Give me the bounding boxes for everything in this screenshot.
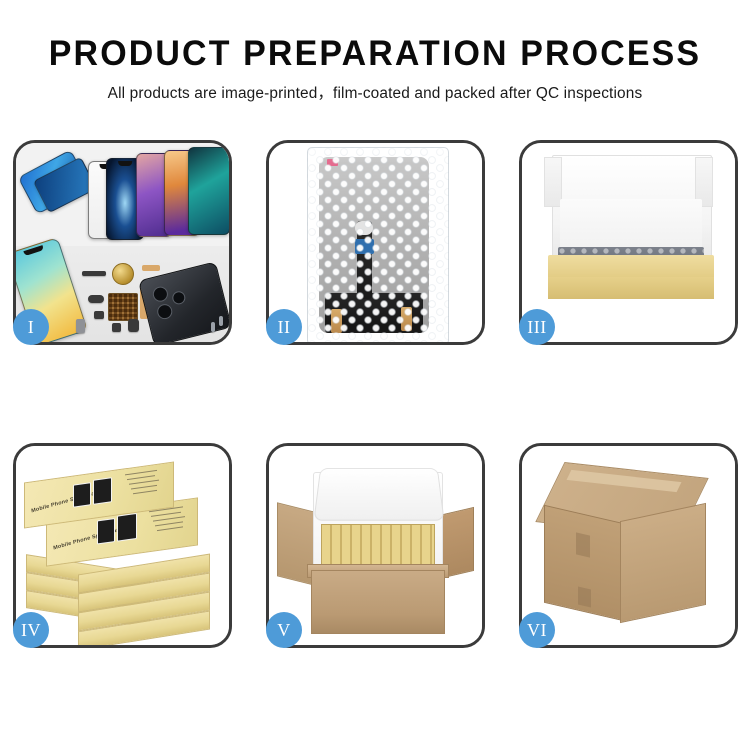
- box-art-screen-icon: [97, 518, 115, 545]
- part-bracket-icon: [88, 295, 104, 303]
- step-badge-3: III: [519, 309, 555, 345]
- notch-icon: [118, 161, 132, 166]
- step-2-image: [269, 143, 482, 342]
- camera-lens-icon: [171, 290, 187, 306]
- carton-seal-mark-icon: [578, 586, 591, 607]
- part-flex-cable-icon: [142, 265, 160, 271]
- part-screw-icon: [219, 316, 223, 326]
- camera-lens-icon: [156, 303, 174, 321]
- part-camera-icon: [128, 319, 139, 332]
- step-4-image: Mobile Phone Spare Parts Mobile Phone Sp…: [16, 446, 229, 645]
- screen-display-teal-icon: [188, 147, 229, 235]
- step-5-image: [269, 446, 482, 645]
- step-6-image: [522, 446, 735, 645]
- carton-packing-scene: [269, 446, 482, 645]
- process-step-panel-6: VI: [519, 443, 738, 648]
- bubble-wrap-overlay-icon: [307, 147, 449, 342]
- process-step-panel-1: I: [13, 140, 232, 345]
- part-strip-icon: [82, 271, 106, 276]
- process-step-panel-2: II: [266, 140, 485, 345]
- step-badge-4: IV: [13, 612, 49, 648]
- part-small-icon: [94, 311, 104, 319]
- part-speaker-icon: [112, 263, 134, 285]
- process-step-panel-4: Mobile Phone Spare Parts Mobile Phone Sp…: [13, 443, 232, 648]
- open-tray-box-scene: [522, 143, 735, 342]
- part-sim-tray-icon: [76, 319, 85, 333]
- notch-icon: [23, 245, 43, 256]
- part-screw-icon: [211, 322, 215, 332]
- sealed-carton-scene: [522, 446, 735, 645]
- step-3-image: [522, 143, 735, 342]
- page-subtitle: All products are image-printed，film-coat…: [0, 81, 750, 103]
- step-badge-5: V: [266, 612, 302, 648]
- yellow-tray-box-front-icon: [548, 277, 714, 299]
- step-1-image: [16, 143, 229, 342]
- box-art-screen-icon: [73, 482, 91, 508]
- retail-boxes-inside-icon: [321, 524, 435, 566]
- carton-front-panel-icon: [311, 570, 445, 634]
- step-badge-2: II: [266, 309, 302, 345]
- process-step-panel-5: V: [266, 443, 485, 648]
- step-badge-6: VI: [519, 612, 555, 648]
- carton-right-face-icon: [620, 503, 706, 623]
- box-art-screen-icon: [117, 513, 137, 542]
- page-header: PRODUCT PREPARATION PROCESS All products…: [0, 0, 750, 103]
- process-step-panel-3: III: [519, 140, 738, 345]
- step-badge-1: I: [13, 309, 49, 345]
- camera-lens-icon: [151, 285, 169, 303]
- bubble-wrap-scene: [269, 143, 482, 342]
- page-title: PRODUCT PREPARATION PROCESS: [11, 34, 739, 74]
- process-step-grid: I II: [13, 140, 737, 648]
- phone-parts-scene: [16, 143, 229, 342]
- carton-seal-mark-icon: [576, 532, 590, 557]
- stacked-retail-boxes-scene: Mobile Phone Spare Parts Mobile Phone Sp…: [16, 446, 229, 645]
- box-art-screen-icon: [93, 477, 112, 505]
- foam-lid-icon: [313, 468, 444, 521]
- part-button-icon: [112, 323, 121, 332]
- part-chip-grid-icon: [108, 293, 138, 321]
